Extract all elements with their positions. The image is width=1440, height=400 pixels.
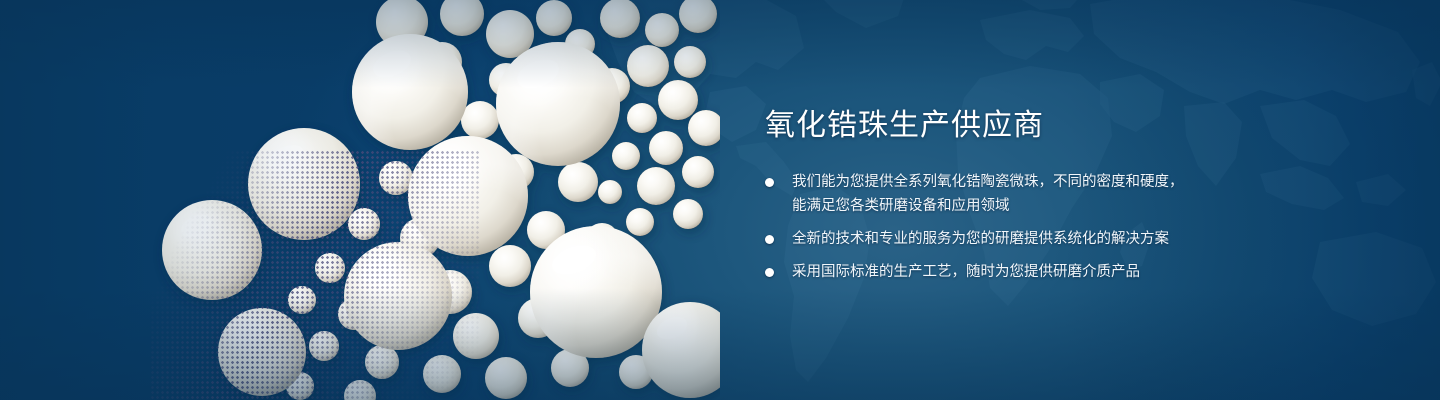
list-item: 采用国际标准的生产工艺，随时为您提供研磨介质产品 xyxy=(765,260,1325,284)
page-title: 氧化锆珠生产供应商 xyxy=(765,106,1325,146)
list-item-line: 采用国际标准的生产工艺，随时为您提供研磨介质产品 xyxy=(792,260,1325,284)
bullet-dot-icon xyxy=(765,235,774,244)
list-item-line: 我们能为您提供全系列氧化锆陶瓷微珠，不同的密度和硬度， xyxy=(792,170,1325,194)
list-item: 我们能为您提供全系列氧化锆陶瓷微珠，不同的密度和硬度， 能满足您各类研磨设备和应… xyxy=(765,170,1325,218)
list-item-line: 能满足您各类研磨设备和应用领域 xyxy=(792,194,1325,218)
list-item-line: 全新的技术和专业的服务为您的研磨提供系统化的解决方案 xyxy=(792,227,1325,251)
bullet-dot-icon xyxy=(765,268,774,277)
bullet-dot-icon xyxy=(765,178,774,187)
banner-copy: 氧化锆珠生产供应商 我们能为您提供全系列氧化锆陶瓷微珠，不同的密度和硬度， 能满… xyxy=(765,106,1325,284)
hero-banner: 氧化锆珠生产供应商 我们能为您提供全系列氧化锆陶瓷微珠，不同的密度和硬度， 能满… xyxy=(0,0,1440,400)
list-item: 全新的技术和专业的服务为您的研磨提供系统化的解决方案 xyxy=(765,227,1325,251)
feature-list: 我们能为您提供全系列氧化锆陶瓷微珠，不同的密度和硬度， 能满足您各类研磨设备和应… xyxy=(765,170,1325,284)
